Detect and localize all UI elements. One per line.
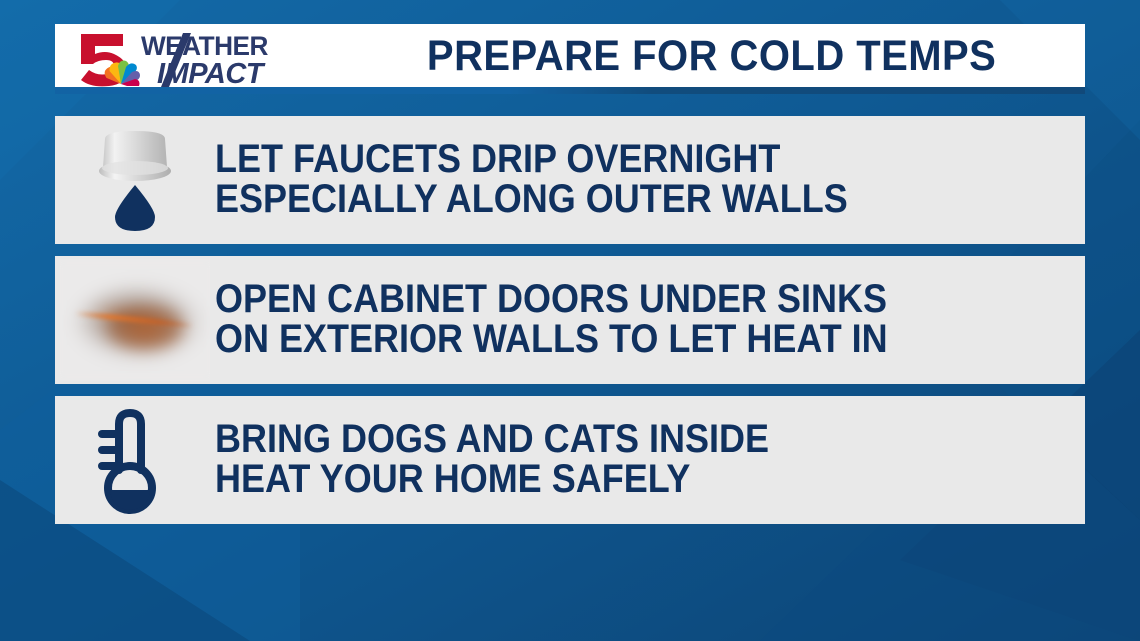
tip-row-thermometer: BRING DOGS AND CATS INSIDE HEAT YOUR HOM…: [55, 396, 1085, 524]
tip-row-faucet: LET FAUCETS DRIP OVERNIGHT ESPECIALLY AL…: [55, 116, 1085, 244]
channel-5-icon: [71, 30, 133, 88]
tip-row-cabinet: OPEN CABINET DOORS UNDER SINKS ON EXTERI…: [55, 256, 1085, 384]
tip-line-1: BRING DOGS AND CATS INSIDE: [215, 420, 985, 460]
tip-line-2: ESPECIALLY ALONG OUTER WALLS: [215, 180, 985, 220]
tip-line-1: OPEN CABINET DOORS UNDER SINKS: [215, 280, 985, 320]
tip-line-1: LET FAUCETS DRIP OVERNIGHT: [215, 140, 985, 180]
page-title: PREPARE FOR COLD TEMPS: [381, 35, 1060, 84]
tip-icon-cell: [55, 116, 215, 244]
faucet-drip-icon: [87, 127, 183, 233]
header-bar: WEATHER IMPACT PREPARE FOR COLD TEMPS: [55, 24, 1085, 94]
cabinet-photo: [60, 259, 210, 381]
thermometer-icon: [96, 404, 174, 516]
tip-icon-cell: [55, 396, 215, 524]
tip-icon-cell: [55, 256, 215, 384]
tip-text: BRING DOGS AND CATS INSIDE HEAT YOUR HOM…: [215, 420, 1085, 499]
tip-text: LET FAUCETS DRIP OVERNIGHT ESPECIALLY AL…: [215, 140, 1085, 219]
nbc-peacock-icon: [101, 58, 141, 86]
tip-line-2: ON EXTERIOR WALLS TO LET HEAT IN: [215, 320, 985, 360]
wordmark-weather-text: WEATHER: [141, 31, 268, 61]
weather-impact-wordmark: WEATHER IMPACT: [139, 29, 329, 89]
tip-line-2: HEAT YOUR HOME SAFELY: [215, 460, 985, 500]
tip-text: OPEN CABINET DOORS UNDER SINKS ON EXTERI…: [215, 280, 1085, 359]
station-logo: WEATHER IMPACT: [55, 24, 355, 94]
graphic-stage: WEATHER IMPACT PREPARE FOR COLD TEMPS: [0, 0, 1140, 641]
